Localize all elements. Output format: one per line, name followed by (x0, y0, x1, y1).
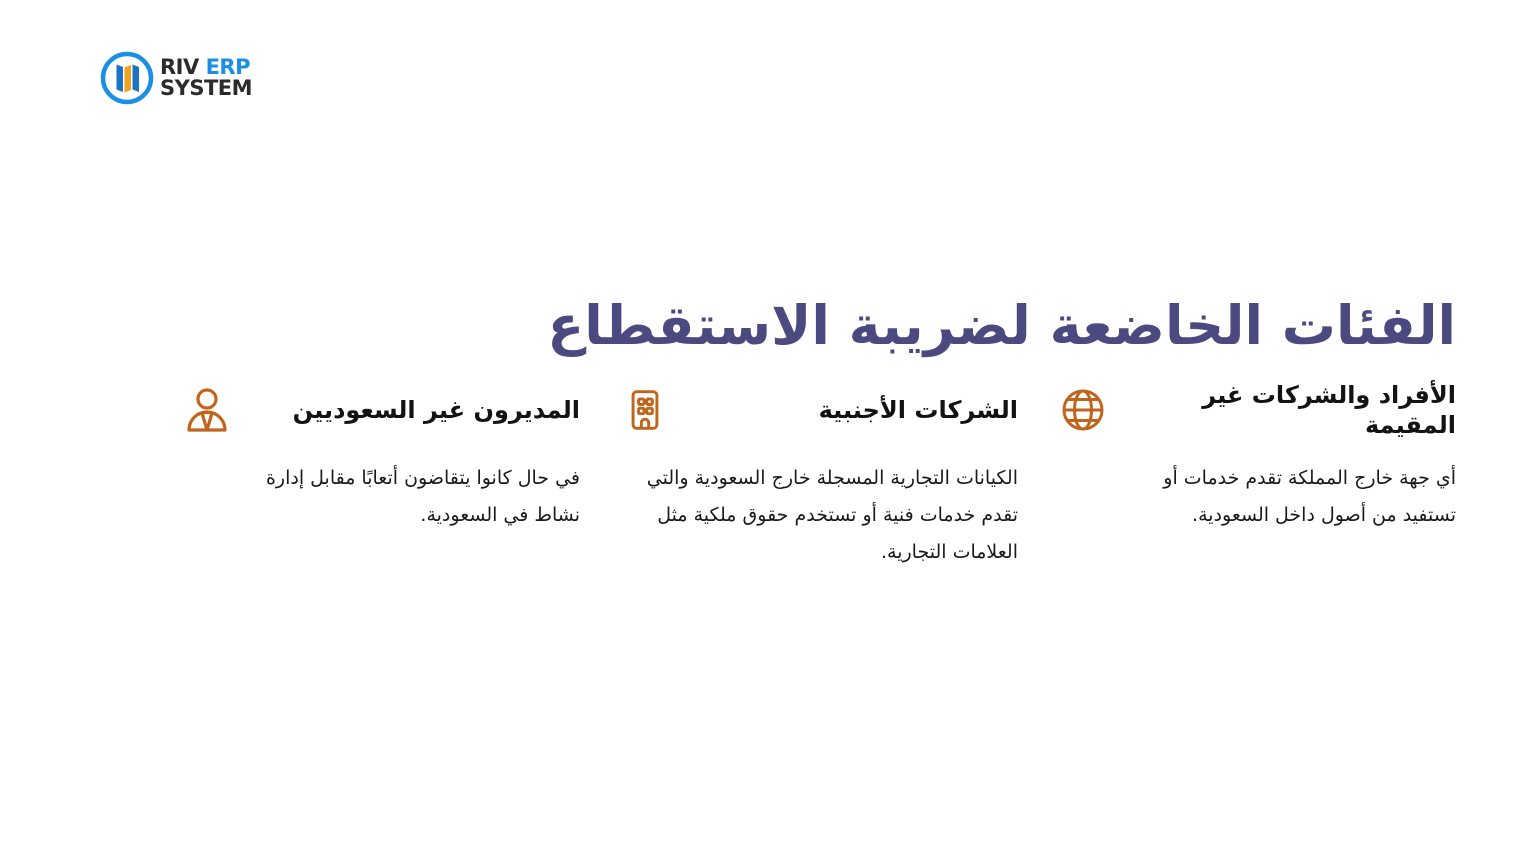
category-card-non-saudi-managers: المديرون غير السعوديين في حال كانوا يتقا… (180, 378, 580, 553)
category-description: الكيانات التجارية المسجلة خارج السعودية … (618, 460, 1018, 571)
brand-logo[interactable]: RIV ERP SYSTEM (100, 47, 260, 109)
riv-erp-circle-bars-logo-icon (100, 51, 154, 105)
category-title: الأفراد والشركات غير المقيمة (1128, 380, 1456, 440)
brand-system-text: SYSTEM (160, 78, 252, 99)
slide-root: { "brand": { "logo_icon": "riv-erp-circl… (0, 0, 1536, 864)
manager-person-icon (180, 383, 234, 437)
globe-icon (1056, 383, 1110, 437)
category-description: أي جهة خارج المملكة تقدم خدمات أو تستفيد… (1056, 460, 1456, 534)
category-card-foreign-companies: الشركات الأجنبية الكيانات التجارية المسج… (618, 378, 1018, 590)
brand-wordmark-line1: RIV ERP (160, 57, 252, 78)
categories-row: الأفراد والشركات غير المقيمة أي جهة خارج… (80, 378, 1456, 590)
category-card-header: المديرون غير السعوديين (180, 378, 580, 442)
brand-wordmark: RIV ERP SYSTEM (160, 57, 252, 98)
category-description: في حال كانوا يتقاضون أتعابًا مقابل إدارة… (180, 460, 580, 534)
category-title: الشركات الأجنبية (690, 395, 1018, 425)
office-building-icon (618, 383, 672, 437)
category-title: المديرون غير السعوديين (252, 395, 580, 425)
page-title: الفئات الخاضعة لضريبة الاستقطاع (80, 294, 1456, 358)
category-card-header: الشركات الأجنبية (618, 378, 1018, 442)
category-card-header: الأفراد والشركات غير المقيمة (1056, 378, 1456, 442)
category-card-non-resident: الأفراد والشركات غير المقيمة أي جهة خارج… (1056, 378, 1456, 553)
